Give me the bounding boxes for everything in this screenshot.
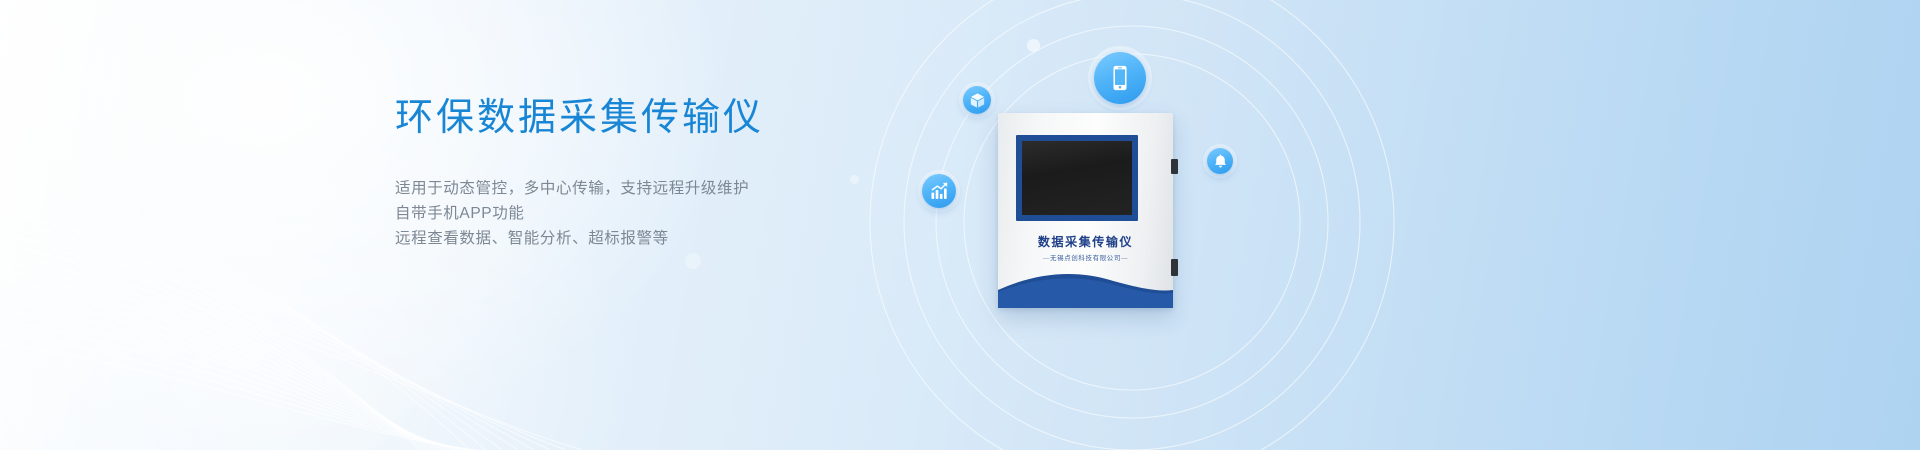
device-company-label: —无锡点创科技有限公司— [998,252,1173,262]
decorative-dot-3 [685,253,701,269]
product-hero-banner: 环保数据采集传输仪 适用于动态管控，多中心传输，支持远程升级维护 自带手机APP… [0,0,1920,450]
device-screen-display [1022,141,1132,215]
alarm-bell-icon [1203,144,1237,178]
device-screen [1016,135,1138,221]
device-brand-label: 数据采集传输仪 [998,233,1173,250]
subtitle-line-3: 远程查看数据、智能分析、超标报警等 [395,226,764,251]
device-wave-accent [998,266,1173,308]
decorative-dot-2 [850,175,859,184]
device-hinge-upper [1171,159,1178,174]
smartphone-icon [1088,46,1152,110]
hero-subtitle-list: 适用于动态管控，多中心传输，支持远程升级维护 自带手机APP功能 远程查看数据、… [395,176,764,251]
data-collector-device: 数据采集传输仪 —无锡点创科技有限公司— [998,113,1173,308]
product-illustration: 数据采集传输仪 —无锡点创科技有限公司— [860,0,1480,450]
hero-text-block: 环保数据采集传输仪 适用于动态管控，多中心传输，支持远程升级维护 自带手机APP… [395,96,764,251]
decorative-dot-1 [1027,39,1040,52]
subtitle-line-2: 自带手机APP功能 [395,201,764,226]
package-cube-icon [959,82,995,118]
subtitle-line-1: 适用于动态管控，多中心传输，支持远程升级维护 [395,176,764,201]
bar-chart-trend-icon [918,170,960,212]
page-title: 环保数据采集传输仪 [395,96,764,142]
device-hinge-lower [1171,259,1178,276]
